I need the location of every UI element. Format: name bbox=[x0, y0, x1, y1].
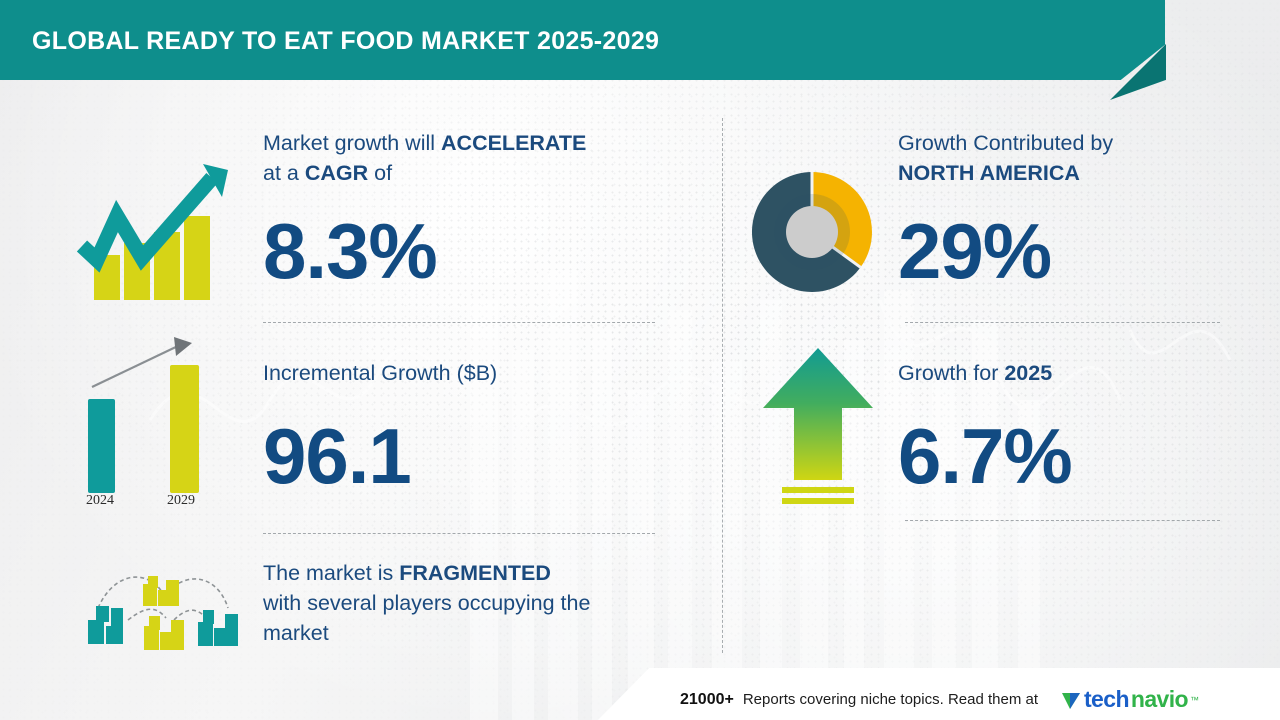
fragmentation-line1-bold: FRAGMENTED bbox=[399, 561, 551, 585]
technavio-mark-icon bbox=[1061, 689, 1082, 711]
cagr-caption-line2-plain: at a bbox=[263, 161, 305, 185]
yearly-caption-bold: 2025 bbox=[1004, 361, 1052, 385]
growth-chart-icon bbox=[62, 150, 242, 310]
cagr-value: 8.3% bbox=[263, 212, 437, 290]
region-caption-line1: Growth Contributed by bbox=[898, 128, 1228, 158]
technavio-logo[interactable]: technavio™ bbox=[1061, 686, 1199, 713]
region-caption: Growth Contributed by NORTH AMERICA bbox=[898, 128, 1228, 188]
yearly-caption: Growth for 2025 bbox=[898, 358, 1052, 388]
footer: 21000+ Reports covering niche topics. Re… bbox=[680, 686, 1199, 713]
fragmentation-line2: with several players occupying the bbox=[263, 588, 693, 618]
footer-text: Reports covering niche topics. Read them… bbox=[743, 691, 1038, 708]
technavio-wordmark-navio: navio bbox=[1131, 686, 1188, 713]
yearly-value: 6.7% bbox=[898, 417, 1072, 495]
region-value: 29% bbox=[898, 212, 1051, 290]
bar-chart-icon: 2024 2029 bbox=[62, 325, 242, 525]
divider-left-1 bbox=[263, 322, 655, 323]
divider-left-2 bbox=[263, 533, 655, 534]
cagr-caption-line2-bold: CAGR bbox=[305, 161, 368, 185]
cagr-caption: Market growth will ACCELERATE at a CAGR … bbox=[263, 128, 683, 188]
page-title: GLOBAL READY TO EAT FOOD MARKET 2025-202… bbox=[32, 27, 659, 56]
cagr-caption-line1-bold: ACCELERATE bbox=[441, 131, 586, 155]
bar-label-2029: 2029 bbox=[167, 493, 195, 509]
fragmentation-caption: The market is FRAGMENTED with several pl… bbox=[263, 558, 693, 648]
incremental-value: 96.1 bbox=[263, 417, 411, 495]
up-arrow-icon bbox=[758, 342, 878, 517]
divider-right-1 bbox=[905, 322, 1220, 323]
divider-right-2 bbox=[905, 520, 1220, 521]
donut-chart-icon bbox=[740, 168, 885, 296]
yearly-caption-plain: Growth for bbox=[898, 361, 1004, 385]
footer-report-count: 21000+ bbox=[680, 691, 734, 709]
technavio-wordmark-tech: tech bbox=[1084, 686, 1129, 713]
fragmentation-line1-plain: The market is bbox=[263, 561, 399, 585]
region-caption-line2-bold: NORTH AMERICA bbox=[898, 161, 1080, 185]
technavio-trademark: ™ bbox=[1190, 695, 1199, 705]
city-network-icon bbox=[70, 558, 252, 658]
fragmentation-line3: market bbox=[263, 618, 693, 648]
incremental-caption: Incremental Growth ($B) bbox=[263, 358, 497, 388]
cagr-caption-line2-tail: of bbox=[368, 161, 392, 185]
bar-label-2024: 2024 bbox=[86, 493, 114, 509]
divider-vertical bbox=[722, 118, 723, 653]
cagr-caption-line1-plain: Market growth will bbox=[263, 131, 441, 155]
